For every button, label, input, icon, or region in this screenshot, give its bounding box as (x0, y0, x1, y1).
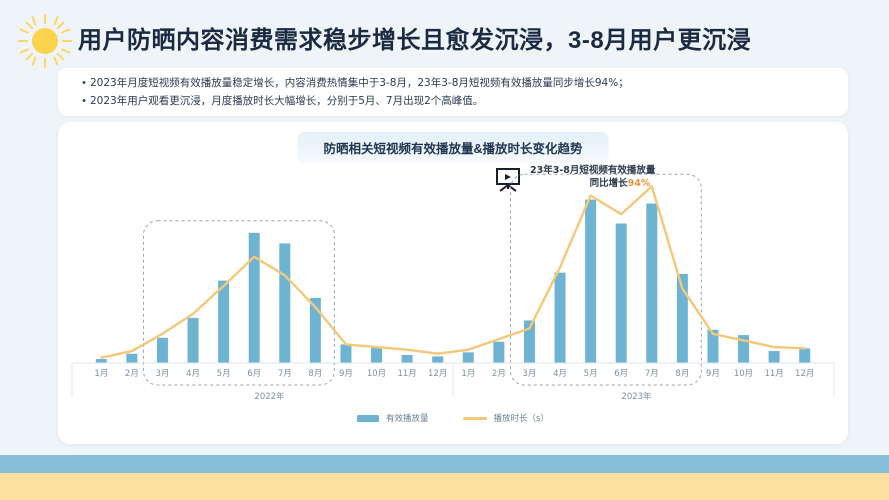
bullet-text: 2023年月度短视频有效播放量稳定增长，内容消费热情集中于3-8月，23年3-8… (90, 75, 629, 91)
chart-svg (58, 122, 848, 444)
bar-2月[interactable] (126, 354, 137, 363)
bullet-text: 2023年用户观看更沉浸，月度播放时长大幅增长，分别于5月、7月出现2个高峰值。 (90, 93, 483, 109)
bar-6月[interactable] (249, 233, 260, 363)
bar-10月[interactable] (371, 347, 382, 363)
sun-icon (8, 8, 82, 74)
legend-label: 播放时长（s） (494, 412, 549, 424)
chart-card: 防晒相关短视频有效播放量&播放时长变化趋势 23年3-8月短视频有效播放量 同比… (58, 122, 848, 444)
summary-card: • 2023年月度短视频有效播放量稳定增长，内容消费热情集中于3-8月，23年3… (58, 68, 848, 116)
bar-11月[interactable] (402, 355, 413, 363)
bullet-item: • 2023年用户观看更沉浸，月度播放时长大幅增长，分别于5月、7月出现2个高峰… (78, 93, 832, 109)
bar-9月[interactable] (340, 344, 351, 363)
bullet-marker: • (78, 93, 90, 109)
bar-5月[interactable] (218, 281, 229, 363)
bullet-marker: • (78, 75, 90, 91)
legend-label: 有效播放量 (386, 412, 429, 424)
bar-12月[interactable] (799, 348, 810, 363)
page-header: 用户防晒内容消费需求稳步增长且愈发沉浸，3-8月用户更沉浸 (0, 6, 889, 64)
bar-3月[interactable] (157, 338, 168, 363)
decorative-blue-band (0, 455, 889, 473)
legend-item-bar[interactable]: 有效播放量 (357, 412, 429, 424)
bullet-item: • 2023年月度短视频有效播放量稳定增长，内容消费热情集中于3-8月，23年3… (78, 75, 832, 91)
bar-7月[interactable] (279, 243, 290, 363)
bar-12月[interactable] (432, 356, 443, 363)
x-tick-2023-12月: 12月 (785, 367, 825, 379)
bar-2月[interactable] (493, 342, 504, 363)
bar-11月[interactable] (769, 351, 780, 363)
bar-1月[interactable] (96, 359, 107, 363)
legend-item-line[interactable]: 播放时长（s） (463, 412, 549, 424)
bar-1月[interactable] (463, 352, 474, 363)
x-group-label-2022年: 2022年 (230, 390, 310, 402)
bar-5月[interactable] (585, 200, 596, 363)
bar-4月[interactable] (188, 318, 199, 363)
highlight-box-1 (143, 221, 334, 385)
chart-legend: 有效播放量 播放时长（s） (58, 412, 848, 424)
line-series-playtime[interactable] (101, 186, 804, 357)
bar-4月[interactable] (555, 273, 566, 363)
chart-plot: 1月2月3月4月5月6月7月8月9月10月11月12月1月2月3月4月5月6月7… (58, 122, 848, 444)
x-group-label-2023年: 2023年 (597, 390, 677, 402)
legend-bar-swatch-icon (357, 415, 379, 422)
legend-line-swatch-icon (463, 417, 487, 420)
page-title: 用户防晒内容消费需求稳步增长且愈发沉浸，3-8月用户更沉浸 (78, 20, 751, 55)
bar-7月[interactable] (646, 204, 657, 363)
bar-6月[interactable] (616, 224, 627, 364)
decorative-sand-band (0, 473, 889, 500)
